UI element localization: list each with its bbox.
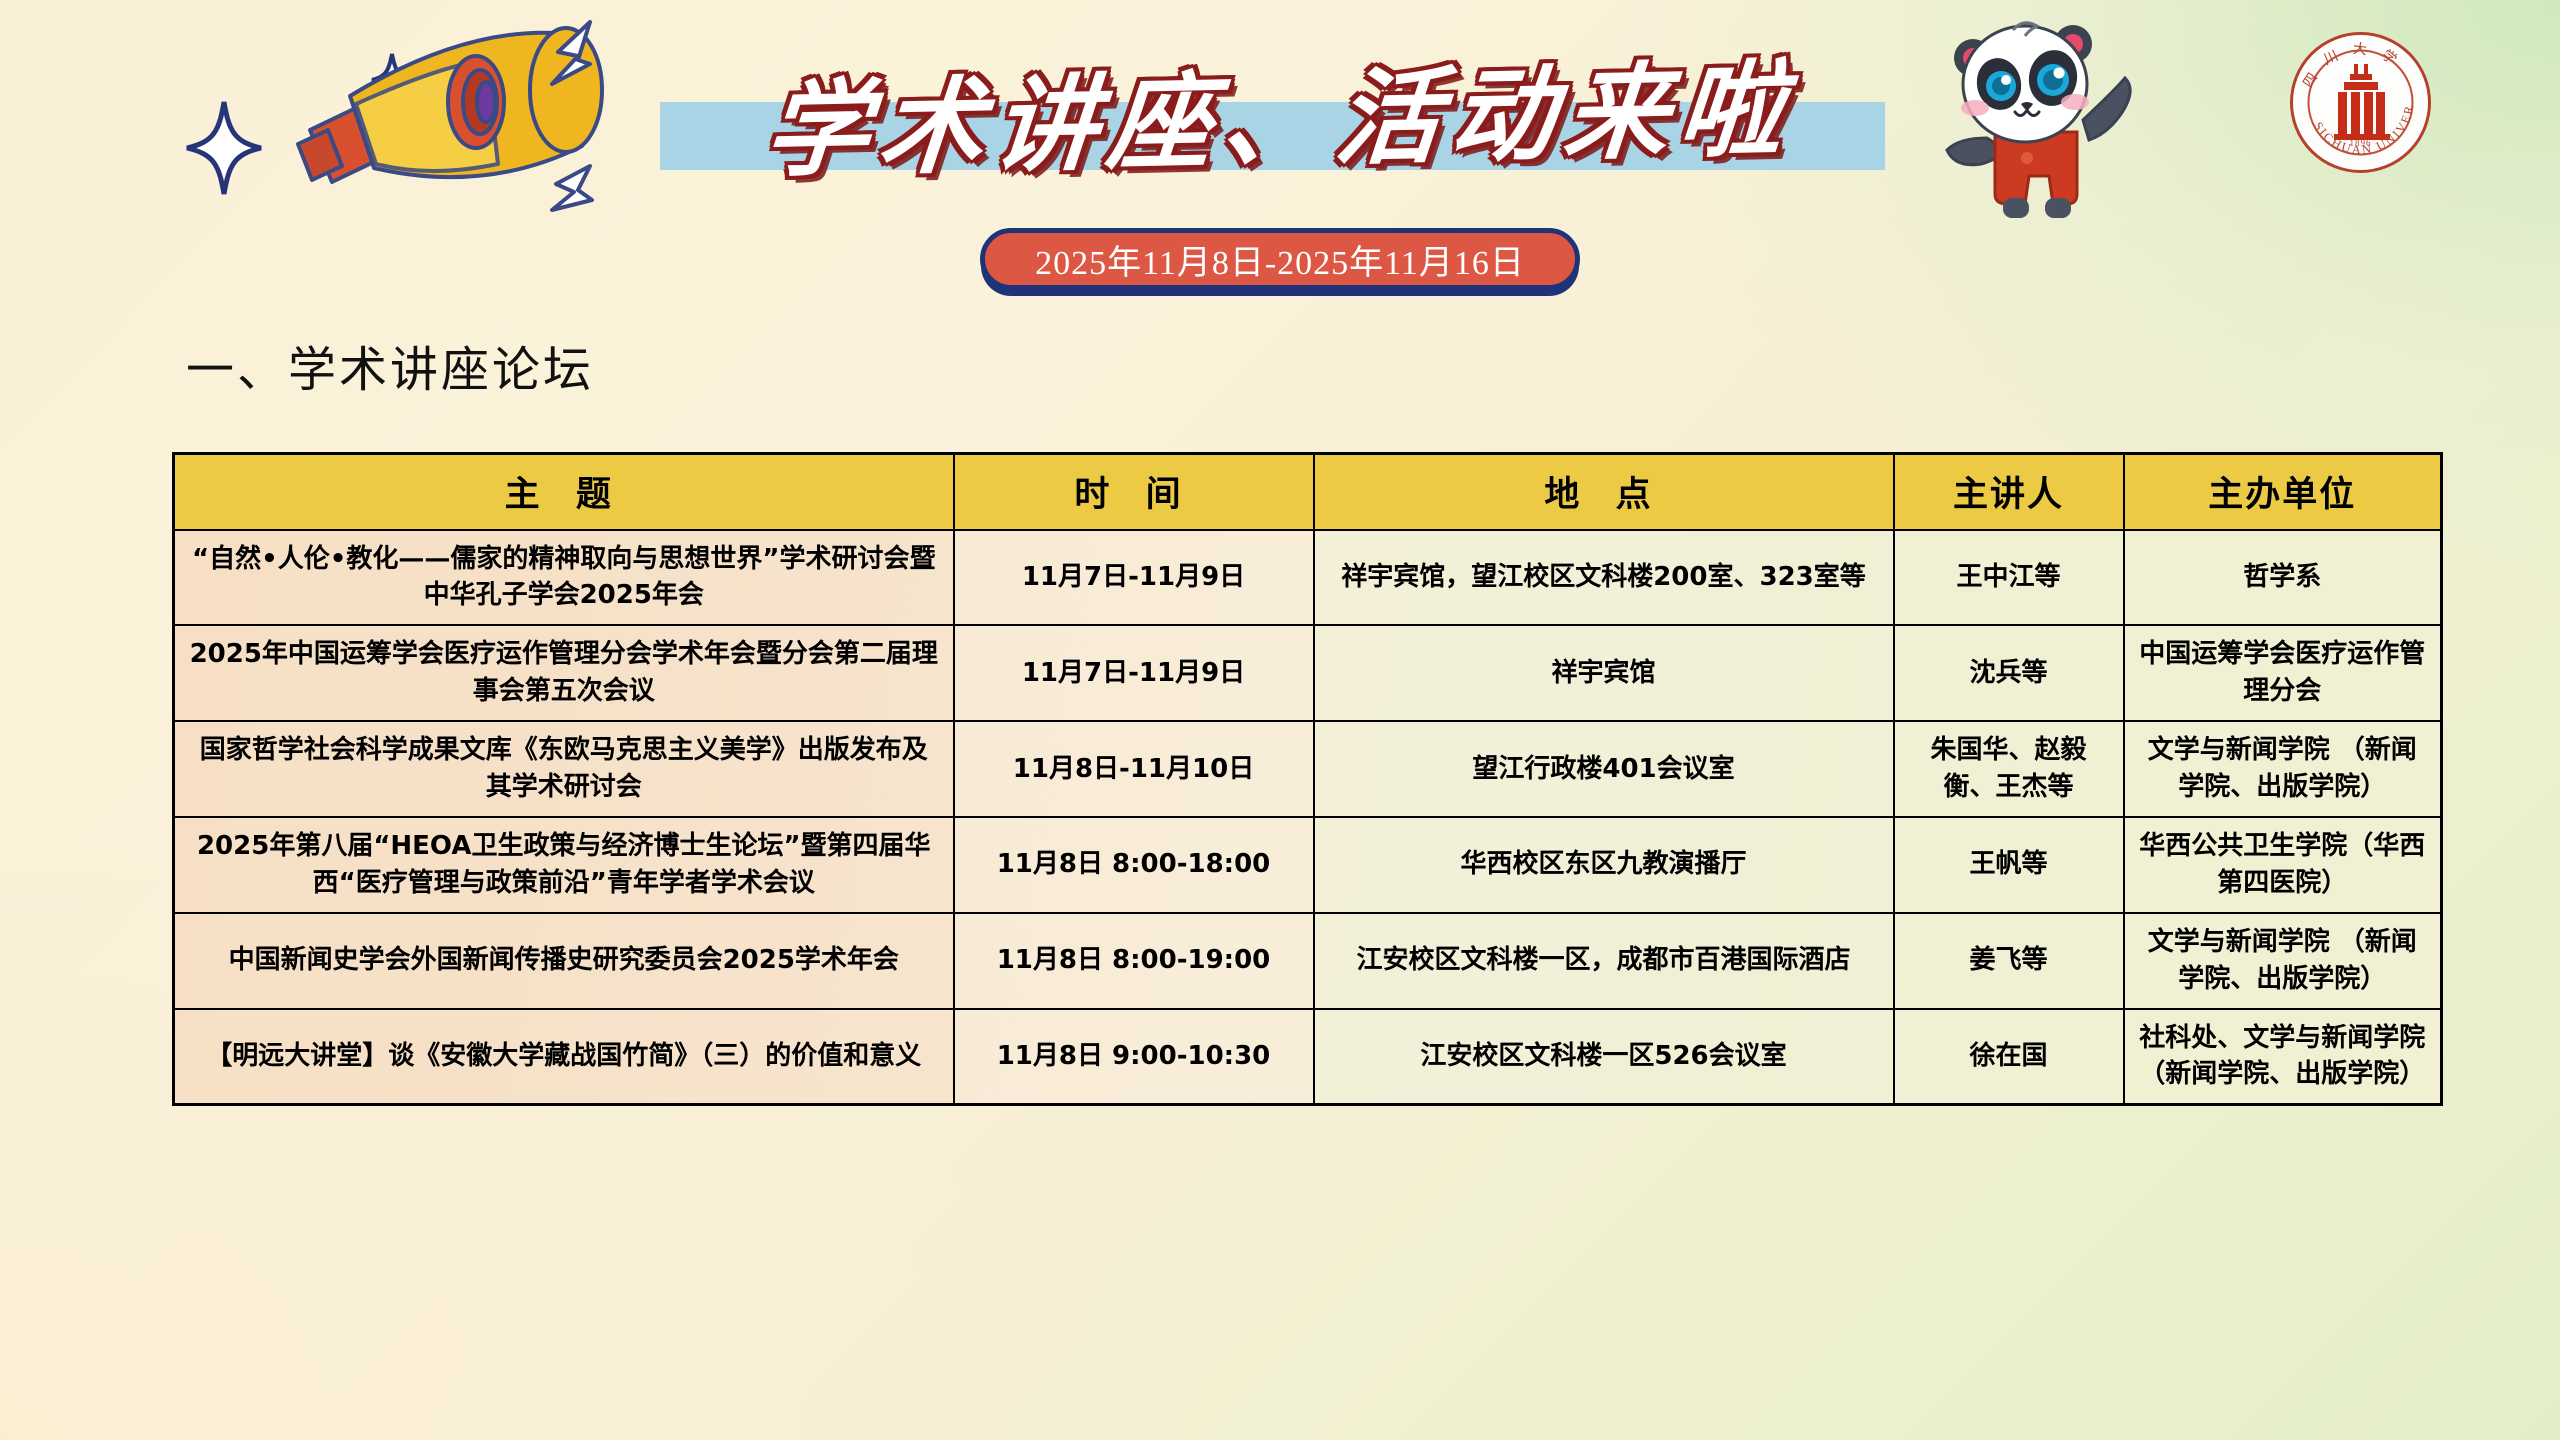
cell-place: 望江行政楼401会议室	[1314, 721, 1894, 817]
cell-org: 华西公共卫生学院（华西第四医院）	[2124, 817, 2442, 913]
header-title-group: 学术讲座、活动来啦	[660, 40, 1900, 180]
cell-org: 文学与新闻学院 （新闻学院、出版学院）	[2124, 913, 2442, 1009]
table-row: 2025年中国运筹学会医疗运作管理分会学术年会暨分会第二届理事会第五次会议 11…	[174, 625, 2442, 721]
cell-time: 11月7日-11月9日	[954, 530, 1314, 626]
table-header-row: 主 题 时 间 地 点 主讲人 主办单位	[174, 454, 2442, 530]
column-header-topic: 主 题	[174, 454, 954, 530]
table-row: 【明远大讲堂】谈《安徽大学藏战国竹简》（三）的价值和意义 11月8日 9:00-…	[174, 1009, 2442, 1105]
schedule-table-wrapper: 主 题 时 间 地 点 主讲人 主办单位 “自然•人伦•教化——儒家的精神取向与…	[172, 452, 2440, 1106]
cell-speaker: 徐在国	[1894, 1009, 2124, 1105]
cell-org: 中国运筹学会医疗运作管理分会	[2124, 625, 2442, 721]
panda-mascot-icon	[1925, 8, 2145, 223]
cell-topic: 中国新闻史学会外国新闻传播史研究委员会2025学术年会	[174, 913, 954, 1009]
page-title: 学术讲座、活动来啦	[653, 27, 1907, 193]
cell-speaker: 王帆等	[1894, 817, 2124, 913]
cell-place: 江安校区文科楼一区，成都市百港国际酒店	[1314, 913, 1894, 1009]
date-range-badge: 2025年11月8日-2025年11月16日	[980, 228, 1580, 290]
cell-place: 华西校区东区九教演播厅	[1314, 817, 1894, 913]
cell-topic: 2025年中国运筹学会医疗运作管理分会学术年会暨分会第二届理事会第五次会议	[174, 625, 954, 721]
cell-time: 11月8日-11月10日	[954, 721, 1314, 817]
page-header: 学术讲座、活动来啦 2025年11月8日-2025年11月16日	[0, 0, 2560, 330]
cell-place: 祥宇宾馆，望江校区文科楼200室、323室等	[1314, 530, 1894, 626]
cell-speaker: 沈兵等	[1894, 625, 2124, 721]
column-header-speaker: 主讲人	[1894, 454, 2124, 530]
cell-time: 11月8日 8:00-19:00	[954, 913, 1314, 1009]
cell-speaker: 姜飞等	[1894, 913, 2124, 1009]
sparkle-star-icon	[185, 100, 263, 196]
cell-org: 哲学系	[2124, 530, 2442, 626]
cell-topic: 2025年第八届“HEOA卫生政策与经济博士生论坛”暨第四届华西“医疗管理与政策…	[174, 817, 954, 913]
column-header-time: 时 间	[954, 454, 1314, 530]
cell-topic: “自然•人伦•教化——儒家的精神取向与思想世界”学术研讨会暨中华孔子学会2025…	[174, 530, 954, 626]
cell-org: 社科处、文学与新闻学院（新闻学院、出版学院）	[2124, 1009, 2442, 1105]
table-row: 2025年第八届“HEOA卫生政策与经济博士生论坛”暨第四届华西“医疗管理与政策…	[174, 817, 2442, 913]
cell-place: 祥宇宾馆	[1314, 625, 1894, 721]
column-header-place: 地 点	[1314, 454, 1894, 530]
cell-time: 11月8日 9:00-10:30	[954, 1009, 1314, 1105]
table-row: 国家哲学社会科学成果文库《东欧马克思主义美学》出版发布及其学术研讨会 11月8日…	[174, 721, 2442, 817]
cell-org: 文学与新闻学院 （新闻学院、出版学院）	[2124, 721, 2442, 817]
megaphone-icon	[290, 18, 660, 218]
section-heading: 一、学术讲座论坛	[186, 330, 594, 400]
cell-time: 11月7日-11月9日	[954, 625, 1314, 721]
cell-time: 11月8日 8:00-18:00	[954, 817, 1314, 913]
cell-place: 江安校区文科楼一区526会议室	[1314, 1009, 1894, 1105]
cell-topic: 【明远大讲堂】谈《安徽大学藏战国竹简》（三）的价值和意义	[174, 1009, 954, 1105]
table-row: “自然•人伦•教化——儒家的精神取向与思想世界”学术研讨会暨中华孔子学会2025…	[174, 530, 2442, 626]
table-row: 中国新闻史学会外国新闻传播史研究委员会2025学术年会 11月8日 8:00-1…	[174, 913, 2442, 1009]
cell-speaker: 王中江等	[1894, 530, 2124, 626]
column-header-org: 主办单位	[2124, 454, 2442, 530]
cell-speaker: 朱国华、赵毅衡、王杰等	[1894, 721, 2124, 817]
date-range-label: 2025年11月8日-2025年11月16日	[1035, 235, 1525, 284]
schedule-table: 主 题 时 间 地 点 主讲人 主办单位 “自然•人伦•教化——儒家的精神取向与…	[172, 452, 2443, 1106]
sichuan-university-logo: 1896 SICHUAN UNIVERSITY 四川大学	[2288, 30, 2433, 175]
cell-topic: 国家哲学社会科学成果文库《东欧马克思主义美学》出版发布及其学术研讨会	[174, 721, 954, 817]
